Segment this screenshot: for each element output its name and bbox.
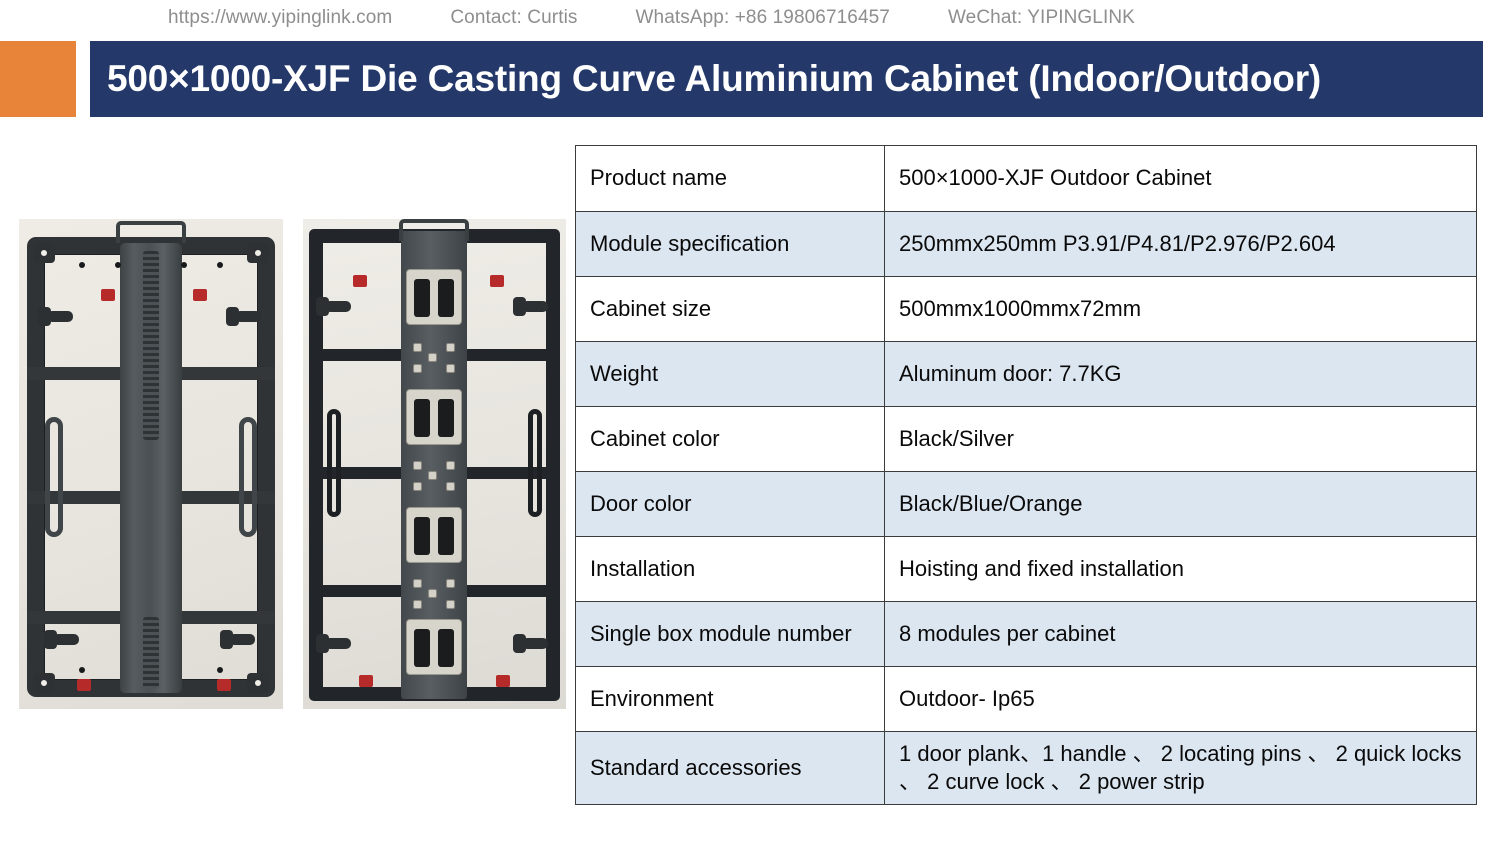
product-photo-cabinet-front[interactable]: [303, 219, 567, 709]
left-side-handle: [327, 409, 341, 517]
orange-accent-block: [0, 41, 76, 117]
website-link[interactable]: https://www.yipinglink.com: [168, 7, 392, 29]
wechat-id: WeChat: YIPINGLINK: [948, 7, 1135, 29]
title-bar: 500×1000-XJF Die Casting Curve Aluminium…: [90, 41, 1483, 117]
spec-key: Single box module number: [576, 602, 885, 667]
quick-lock-knob: [53, 634, 79, 645]
left-side-handle: [45, 417, 63, 537]
spec-key: Cabinet size: [576, 277, 885, 342]
spec-key: Module specification: [576, 212, 885, 277]
spec-key: Installation: [576, 537, 885, 602]
module-mount-plate: [406, 269, 462, 325]
bolt: [217, 262, 223, 268]
right-side-handle: [239, 417, 257, 537]
spec-value: 250mmx250mm P3.91/P4.81/P2.976/P2.604: [885, 212, 1477, 277]
center-spine: [120, 243, 182, 693]
table-row: Cabinet size 500mmx1000mmx72mm: [576, 277, 1477, 342]
module-mount-plate: [406, 389, 462, 445]
red-lock-tab: [353, 275, 367, 287]
screw-cluster: [411, 577, 457, 611]
red-lock-tab: [101, 289, 115, 301]
spec-value: Hoisting and fixed installation: [885, 537, 1477, 602]
screw-cluster: [411, 459, 457, 493]
bolt: [181, 262, 187, 268]
spec-key: Standard accessories: [576, 732, 885, 805]
quick-lock-knob: [522, 301, 548, 312]
spec-value: Black/Silver: [885, 407, 1477, 472]
table-row: Cabinet color Black/Silver: [576, 407, 1477, 472]
quick-lock-knob: [325, 638, 351, 649]
spec-key: Weight: [576, 342, 885, 407]
spec-value: 500×1000-XJF Outdoor Cabinet: [885, 146, 1477, 212]
specification-table: Product name 500×1000-XJF Outdoor Cabine…: [575, 145, 1477, 805]
module-mount-plate: [406, 507, 462, 563]
quick-lock-knob: [325, 301, 351, 312]
product-photo-cabinet-back[interactable]: [19, 219, 283, 709]
spec-key: Cabinet color: [576, 407, 885, 472]
spec-value: 8 modules per cabinet: [885, 602, 1477, 667]
red-lock-tab: [77, 679, 91, 691]
quick-lock-knob: [235, 311, 261, 322]
spec-key: Environment: [576, 667, 885, 732]
corner-lug: [33, 673, 55, 693]
corner-lug: [247, 243, 269, 263]
corner-lug: [247, 673, 269, 693]
bolt: [115, 262, 121, 268]
spec-value: 500mmx1000mmx72mm: [885, 277, 1477, 342]
quick-lock-knob: [47, 311, 73, 322]
quick-lock-knob: [229, 634, 255, 645]
product-photo-gallery: [19, 219, 566, 709]
table-row: Environment Outdoor- Ip65: [576, 667, 1477, 732]
spec-value: 1 door plank、1 handle 、 2 locating pins …: [885, 732, 1477, 805]
bolt: [217, 667, 223, 673]
spec-key: Product name: [576, 146, 885, 212]
table-row: Single box module number 8 modules per c…: [576, 602, 1477, 667]
table-row: Door color Black/Blue/Orange: [576, 472, 1477, 537]
specification-table-body: Product name 500×1000-XJF Outdoor Cabine…: [576, 146, 1477, 805]
spec-key: Door color: [576, 472, 885, 537]
whatsapp-number: WhatsApp: +86 19806716457: [636, 7, 890, 29]
bolt: [79, 262, 85, 268]
spec-value: Black/Blue/Orange: [885, 472, 1477, 537]
title-band: 500×1000-XJF Die Casting Curve Aluminium…: [0, 41, 1500, 117]
table-row: Weight Aluminum door: 7.7KG: [576, 342, 1477, 407]
spec-value: Aluminum door: 7.7KG: [885, 342, 1477, 407]
screw-cluster: [411, 341, 457, 375]
bolt: [79, 667, 85, 673]
contact-person: Contact: Curtis: [450, 7, 577, 29]
table-row: Installation Hoisting and fixed installa…: [576, 537, 1477, 602]
table-row: Module specification 250mmx250mm P3.91/P…: [576, 212, 1477, 277]
page-title: 500×1000-XJF Die Casting Curve Aluminium…: [90, 58, 1321, 100]
red-lock-tab: [490, 275, 504, 287]
table-row: Standard accessories 1 door plank、1 hand…: [576, 732, 1477, 805]
top-carry-handle: [116, 221, 186, 243]
red-lock-tab: [496, 675, 510, 687]
red-lock-tab: [193, 289, 207, 301]
quick-lock-knob: [522, 638, 548, 649]
top-carry-handle: [399, 219, 469, 241]
contact-bar: https://www.yipinglink.com Contact: Curt…: [0, 0, 1500, 35]
spec-value: Outdoor- Ip65: [885, 667, 1477, 732]
red-lock-tab: [359, 675, 373, 687]
corner-lug: [33, 243, 55, 263]
module-mount-plate: [406, 619, 462, 675]
table-row: Product name 500×1000-XJF Outdoor Cabine…: [576, 146, 1477, 212]
right-side-handle: [528, 409, 542, 517]
red-lock-tab: [217, 679, 231, 691]
